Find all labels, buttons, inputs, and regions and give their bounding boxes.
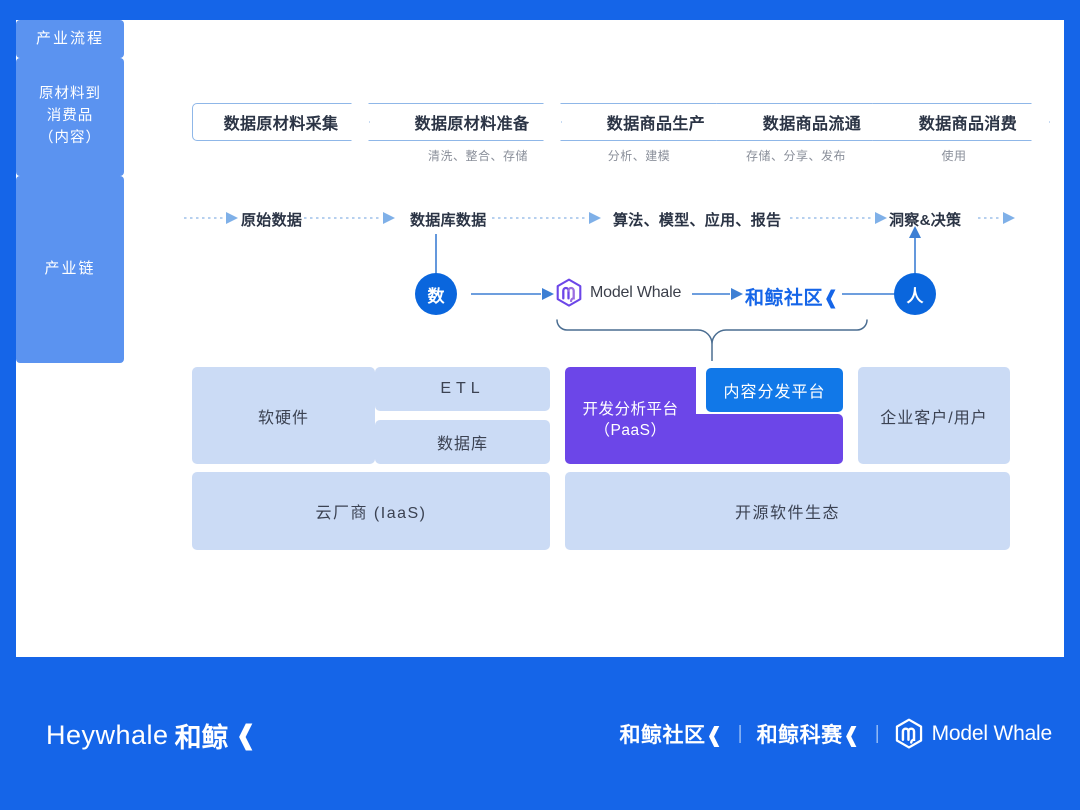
process-step-4-sub: 存储、分享、发布 bbox=[710, 147, 882, 164]
value-row-label-line-1: 原材料到 bbox=[39, 84, 101, 106]
value-row-label-line-3: （内容） bbox=[39, 128, 101, 150]
chain-box-cloud-vendors[interactable]: 云厂商 (IaaS) bbox=[192, 472, 550, 550]
chain-box-hardware-software[interactable]: 软硬件 bbox=[192, 367, 375, 464]
chain-box-content-distribution[interactable]: 内容分发平台 bbox=[706, 368, 843, 412]
process-step-1-title: 数据原材料采集 bbox=[224, 110, 339, 134]
community-node-label: 和鲸社区 bbox=[745, 288, 823, 309]
chain-box-database[interactable]: 数据库 bbox=[375, 420, 550, 464]
modelwhale-node-label: Model Whale bbox=[590, 284, 681, 302]
modelwhale-icon bbox=[894, 718, 924, 750]
process-step-5-sub: 使用 bbox=[868, 147, 1040, 164]
chain-box-paas-extension[interactable] bbox=[691, 414, 843, 464]
heywhale-logo[interactable]: Heywhale 和鲸 ❰ bbox=[46, 716, 257, 755]
chain-box-etl-label: ETL bbox=[440, 380, 484, 398]
chain-box-paas-label-line-2: （PaaS） bbox=[565, 421, 696, 442]
chain-box-cloud-vendors-label: 云厂商 (IaaS) bbox=[315, 499, 426, 523]
process-step-2[interactable]: 数据原材料准备 bbox=[368, 103, 562, 141]
chain-box-paas-label-line-1: 开发分析平台 bbox=[565, 400, 696, 421]
community-mark-icon: ❰ bbox=[706, 724, 724, 747]
chain-box-enterprise-customers[interactable]: 企业客户/用户 bbox=[858, 367, 1010, 464]
chain-box-content-distribution-label: 内容分发平台 bbox=[723, 378, 825, 402]
value-row-label: 原材料到 消费品 （内容） bbox=[16, 58, 124, 176]
process-row-label: 产业流程 bbox=[16, 20, 124, 58]
chain-box-etl[interactable]: ETL bbox=[375, 367, 550, 411]
footer-divider-2: | bbox=[875, 723, 880, 745]
chain-box-database-label: 数据库 bbox=[437, 430, 488, 454]
process-step-3-title: 数据商品生产 bbox=[607, 110, 705, 134]
chain-box-enterprise-customers-label: 企业客户/用户 bbox=[880, 404, 987, 428]
community-mark-icon: ❰ bbox=[823, 288, 839, 309]
heywhale-logo-latin: Heywhale bbox=[46, 720, 169, 751]
data-node-circle[interactable]: 数 bbox=[415, 273, 457, 315]
heywhale-logo-cn: 和鲸 bbox=[175, 716, 229, 755]
process-step-5[interactable]: 数据商品消费 bbox=[872, 103, 1050, 141]
modelwhale-node[interactable]: Model Whale bbox=[555, 278, 681, 308]
slide-card: 产业流程 数据原材料采集 数据原材料准备 数据商品生产 数据商品流通 数据商品消… bbox=[16, 20, 1064, 657]
process-row-label-text: 产业流程 bbox=[36, 28, 104, 51]
footer-divider-1: | bbox=[738, 723, 743, 745]
chain-box-hardware-software-label: 软硬件 bbox=[258, 404, 309, 428]
chain-box-open-source-label: 开源软件生态 bbox=[735, 499, 840, 523]
person-node-circle[interactable]: 人 bbox=[894, 273, 936, 315]
chain-box-open-source[interactable]: 开源软件生态 bbox=[565, 472, 1010, 550]
process-step-3-sub: 分析、建模 bbox=[554, 147, 724, 164]
footer-logo-community[interactable]: 和鲸社区❰ bbox=[620, 719, 724, 749]
data-node-label: 数 bbox=[428, 282, 445, 307]
chain-box-paas-label: 开发分析平台 （PaaS） bbox=[565, 400, 696, 442]
footer-product-logos: 和鲸社区❰ | 和鲸科赛❰ | Model Whale bbox=[620, 718, 1052, 750]
footer-logo-kesci[interactable]: 和鲸科赛❰ bbox=[757, 719, 861, 749]
heywhale-mark-icon: ❰ bbox=[235, 720, 258, 751]
modelwhale-icon bbox=[555, 278, 583, 308]
footer-logo-modelwhale[interactable]: Model Whale bbox=[894, 718, 1052, 750]
process-step-4[interactable]: 数据商品流通 bbox=[716, 103, 894, 141]
community-node[interactable]: 和鲸社区❰ bbox=[745, 283, 839, 310]
process-step-2-sub: 清洗、整合、存储 bbox=[388, 147, 568, 164]
person-node-label: 人 bbox=[907, 282, 924, 307]
process-step-1[interactable]: 数据原材料采集 bbox=[192, 103, 370, 141]
process-step-4-title: 数据商品流通 bbox=[763, 110, 861, 134]
kesci-mark-icon: ❰ bbox=[843, 724, 861, 747]
process-step-2-title: 数据原材料准备 bbox=[415, 110, 530, 134]
value-row-label-line-2: 消费品 bbox=[47, 106, 94, 128]
process-step-3[interactable]: 数据商品生产 bbox=[560, 103, 738, 141]
process-step-5-title: 数据商品消费 bbox=[919, 110, 1017, 134]
footer-logo-modelwhale-label: Model Whale bbox=[932, 722, 1052, 746]
